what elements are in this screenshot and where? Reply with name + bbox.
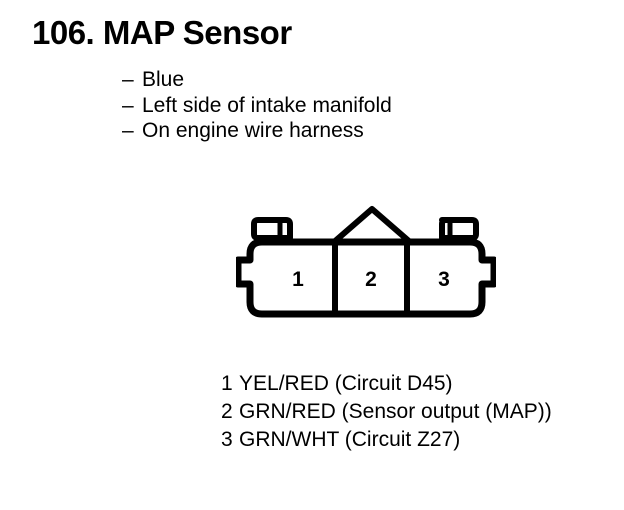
connector-diagram: 1 2 3 xyxy=(236,198,496,326)
legend-row: 3GRN/WHT (Circuit Z27) xyxy=(221,426,552,454)
legend-row: 1YEL/RED (Circuit D45) xyxy=(221,370,552,398)
center-keying-peak xyxy=(334,209,410,242)
dash-icon: – xyxy=(122,118,142,144)
detail-list: –Blue –Left side of intake manifold –On … xyxy=(122,67,392,144)
pin-number-1: 1 xyxy=(292,268,304,291)
legend-pin-number: 1 xyxy=(221,370,239,398)
page-title: 106. MAP Sensor xyxy=(32,16,292,51)
right-tab xyxy=(442,220,476,238)
legend-pin-number: 3 xyxy=(221,426,239,454)
dash-icon: – xyxy=(122,93,142,119)
list-item: –Left side of intake manifold xyxy=(122,93,392,119)
list-item: –On engine wire harness xyxy=(122,118,392,144)
legend-pin-description: GRN/WHT (Circuit Z27) xyxy=(239,428,460,451)
diagram-page: 106. MAP Sensor –Blue –Left side of inta… xyxy=(0,0,624,510)
left-tab xyxy=(254,220,290,238)
pin-number-3: 3 xyxy=(438,268,450,291)
pinout-legend: 1YEL/RED (Circuit D45) 2GRN/RED (Sensor … xyxy=(221,370,552,454)
list-item-label: On engine wire harness xyxy=(142,119,364,142)
pin-number-2: 2 xyxy=(365,268,377,291)
dash-icon: – xyxy=(122,67,142,93)
connector-svg: 1 2 3 xyxy=(236,198,496,326)
legend-pin-description: YEL/RED (Circuit D45) xyxy=(239,372,453,395)
list-item-label: Blue xyxy=(142,68,184,91)
legend-pin-description: GRN/RED (Sensor output (MAP)) xyxy=(239,400,552,423)
list-item: –Blue xyxy=(122,67,392,93)
legend-row: 2GRN/RED (Sensor output (MAP)) xyxy=(221,398,552,426)
legend-pin-number: 2 xyxy=(221,398,239,426)
list-item-label: Left side of intake manifold xyxy=(142,94,392,117)
